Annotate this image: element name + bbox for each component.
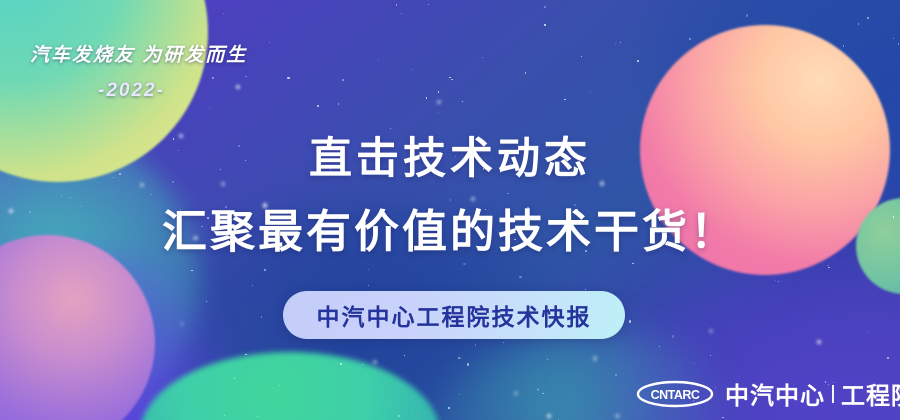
star-dot [507, 193, 508, 194]
star-dot [338, 103, 339, 104]
banner-subline: 汇聚最有价值的技术干货！ [0, 195, 900, 260]
star-dot [396, 4, 397, 5]
star-dot [438, 91, 439, 92]
star-dot [629, 320, 631, 322]
star-dot [438, 112, 439, 113]
star-dot [449, 77, 450, 78]
star-dot [428, 4, 429, 5]
star-dot [245, 76, 246, 77]
star-dot [378, 59, 379, 60]
star-dot [437, 100, 441, 104]
star-dot [209, 108, 210, 109]
star-dot [223, 13, 224, 14]
logo-wordmark: 中汽中心 工程院 [725, 376, 900, 411]
star-dot [451, 79, 452, 80]
banner-headline: 直击技术动态 [0, 124, 900, 186]
star-dot [342, 79, 344, 81]
star-dot [411, 69, 412, 70]
star-dot [269, 42, 270, 43]
star-dot [482, 57, 483, 58]
logo-brand-primary: 中汽中心 [725, 376, 825, 411]
star-dot [632, 263, 633, 264]
cntarc-oval-icon: CNTARC [636, 380, 714, 408]
star-dot [827, 265, 828, 266]
logo-divider [832, 385, 834, 403]
promo-banner: 汽车发烧友 为研发而生 -2022- 直击技术动态 汇聚最有价值的技术干货！ 中… [0, 0, 900, 420]
banner-kicker: 汽车发烧友 为研发而生 [30, 40, 247, 67]
star-dot [620, 42, 621, 43]
star-dot [525, 72, 526, 73]
logo-brand-secondary: 工程院 [841, 376, 900, 411]
logo-lockup: CNTARC 中汽中心 工程院 [636, 376, 900, 411]
star-dot [544, 6, 546, 8]
star-dot [590, 91, 591, 92]
star-dot [401, 13, 402, 14]
star-dot [637, 60, 639, 62]
star-dot [236, 85, 240, 89]
star-dot [828, 267, 829, 268]
star-dot [544, 24, 545, 25]
banner-year: -2022- [98, 80, 165, 102]
star-dot [212, 77, 213, 78]
cntarc-mark-text: CNTARC [651, 388, 700, 402]
star-dot [585, 289, 586, 290]
star-dot [564, 99, 565, 100]
newsletter-badge-label: 中汽中心工程院技术快报 [317, 298, 592, 332]
star-dot [615, 43, 616, 44]
star-dot [426, 97, 427, 98]
star-dot [462, 101, 463, 102]
star-dot [317, 105, 319, 107]
star-dot [581, 56, 582, 57]
star-dot [287, 77, 289, 79]
newsletter-badge[interactable]: 中汽中心工程院技术快报 [283, 291, 625, 339]
